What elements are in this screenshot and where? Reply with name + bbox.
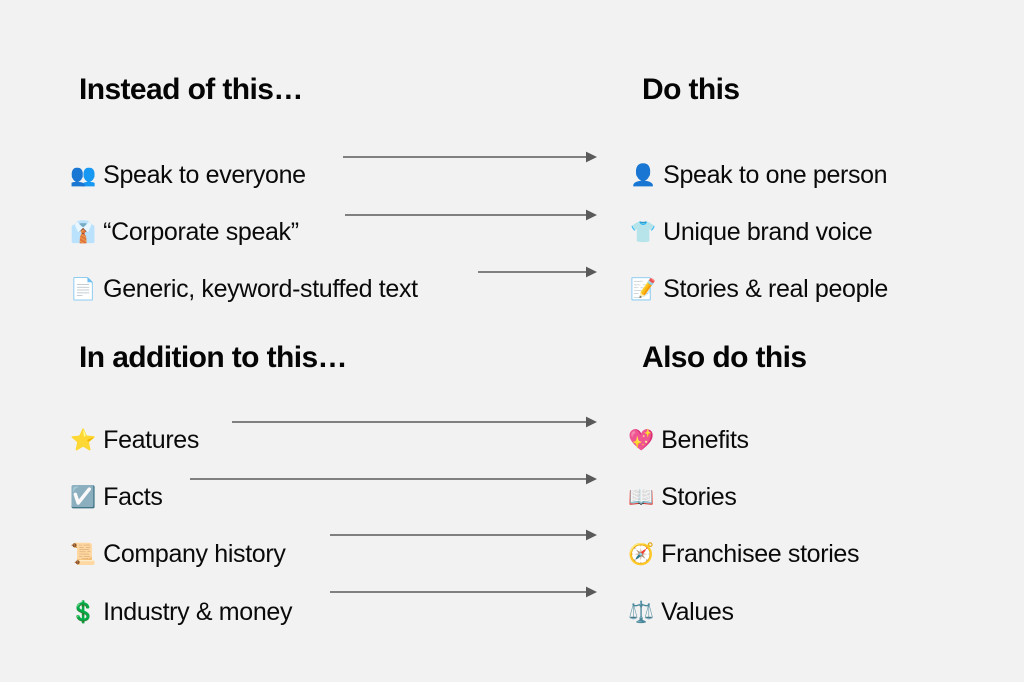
ballot-box-with-check-icon: ☑️ (70, 487, 96, 508)
list-item-label: Speak to one person (663, 163, 887, 188)
list-item-label: Industry & money (103, 600, 292, 625)
star-icon: ⭐ (70, 430, 96, 451)
arrow-company-history (330, 528, 597, 542)
sparkling-heart-icon: 💖 (628, 430, 654, 451)
list-item-stories: 📖 Stories (628, 485, 737, 510)
list-item-unique-brand-voice: 👕 Unique brand voice (630, 220, 872, 245)
busts-in-silhouette-icon: 👥 (70, 165, 96, 186)
list-item-benefits: 💖 Benefits (628, 428, 749, 453)
list-item-label: “Corporate speak” (103, 220, 299, 245)
scroll-icon: 📜 (70, 544, 96, 565)
heading-in-addition-to-this: In addition to this… (79, 343, 347, 373)
slide-canvas: Instead of this… Do this 👥 Speak to ever… (0, 0, 1024, 682)
compass-icon: 🧭 (628, 544, 654, 565)
list-item-label: Unique brand voice (663, 220, 872, 245)
arrow-corporate-speak (345, 208, 597, 222)
t-shirt-icon: 👕 (630, 222, 656, 243)
list-item-label: Franchisee stories (661, 542, 859, 567)
list-item-stories-and-real-people: 📝 Stories & real people (630, 277, 888, 302)
arrow-speak-to-everyone (343, 150, 597, 164)
bust-in-silhouette-icon: 👤 (630, 165, 656, 186)
arrow-industry-money (330, 585, 597, 599)
list-item-label: Features (103, 428, 199, 453)
page-facing-up-icon: 📄 (70, 279, 96, 300)
necktie-icon: 👔 (70, 222, 96, 243)
list-item-label: Stories (661, 485, 736, 510)
list-item-speak-to-one-person: 👤 Speak to one person (630, 163, 887, 188)
list-item-label: Speak to everyone (103, 163, 306, 188)
list-item-label: Generic, keyword-stuffed text (103, 277, 418, 302)
list-item-generic-keyword-stuffed-text: 📄 Generic, keyword-stuffed text (70, 277, 418, 302)
memo-icon: 📝 (630, 279, 656, 300)
heading-do-this: Do this (642, 75, 739, 105)
arrow-facts (190, 472, 597, 486)
list-item-features: ⭐ Features (70, 428, 199, 453)
open-book-icon: 📖 (628, 487, 654, 508)
list-item-label: Facts (103, 485, 162, 510)
heavy-dollar-sign-icon: 💲 (70, 602, 96, 623)
list-item-values: ⚖️ Values (628, 600, 734, 625)
list-item-label: Benefits (661, 428, 749, 453)
list-item-label: Company history (103, 542, 285, 567)
list-item-company-history: 📜 Company history (70, 542, 285, 567)
balance-scale-icon: ⚖️ (628, 602, 654, 623)
heading-also-do-this: Also do this (642, 343, 806, 373)
list-item-facts: ☑️ Facts (70, 485, 163, 510)
heading-instead-of-this: Instead of this… (79, 75, 303, 105)
list-item-label: Stories & real people (663, 277, 888, 302)
arrow-features (232, 415, 597, 429)
list-item-label: Values (661, 600, 734, 625)
list-item-corporate-speak: 👔 “Corporate speak” (70, 220, 299, 245)
list-item-industry-and-money: 💲 Industry & money (70, 600, 292, 625)
list-item-speak-to-everyone: 👥 Speak to everyone (70, 163, 306, 188)
arrow-generic-text (478, 265, 597, 279)
list-item-franchisee-stories: 🧭 Franchisee stories (628, 542, 859, 567)
